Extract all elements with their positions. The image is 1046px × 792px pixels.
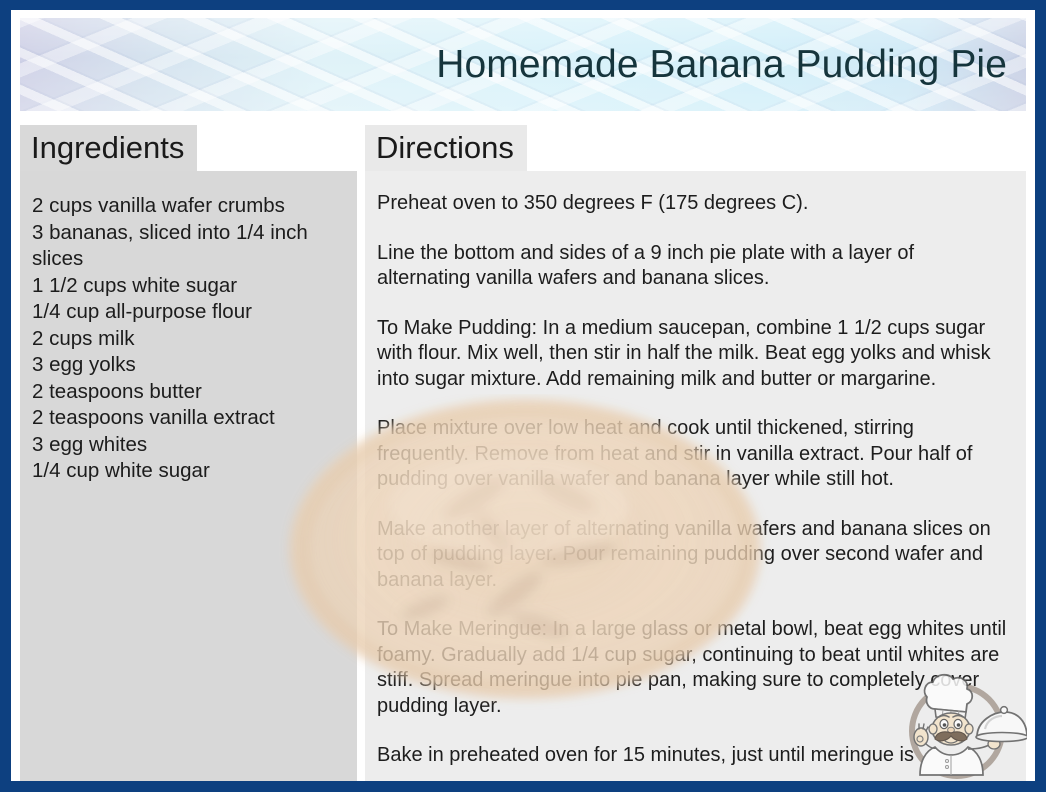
directions-heading: Directions — [365, 125, 527, 171]
list-item: To Make Meringue: In a large glass or me… — [377, 617, 1010, 719]
list-item: Line the bottom and sides of a 9 inch pi… — [377, 241, 1010, 292]
list-item: 3 bananas, sliced into 1/4 inch slices — [32, 220, 345, 273]
directions-list: Preheat oven to 350 degrees F (175 degre… — [377, 191, 1010, 769]
list-item: Bake in preheated oven for 15 minutes, j… — [377, 743, 1010, 769]
list-item: Make another layer of alternating vanill… — [377, 517, 1010, 594]
title-banner: Homemade Banana Pudding Pie — [20, 18, 1026, 111]
list-item: 1/4 cup all-purpose flour — [32, 299, 345, 326]
list-item: 1/4 cup white sugar — [32, 458, 345, 485]
page-title: Homemade Banana Pudding Pie — [436, 43, 1007, 87]
directions-column: Directions Preheat oven to 350 degrees F… — [365, 125, 1026, 781]
recipe-card-frame: Homemade Banana Pudding Pie — [0, 0, 1046, 792]
list-item: 3 egg whites — [32, 432, 345, 459]
ingredients-heading: Ingredients — [20, 125, 197, 171]
list-item: 2 cups vanilla wafer crumbs — [32, 193, 345, 220]
ingredients-panel: 2 cups vanilla wafer crumbs 3 bananas, s… — [20, 171, 357, 781]
list-item: To Make Pudding: In a medium saucepan, c… — [377, 316, 1010, 393]
recipe-card-inner: Homemade Banana Pudding Pie — [11, 10, 1035, 781]
list-item: 2 teaspoons vanilla extract — [32, 405, 345, 432]
list-item: 3 egg yolks — [32, 352, 345, 379]
ingredients-list: 2 cups vanilla wafer crumbs 3 bananas, s… — [32, 193, 345, 485]
list-item: 2 cups milk — [32, 326, 345, 353]
ingredients-column: Ingredients 2 cups vanilla wafer crumbs … — [20, 125, 357, 781]
list-item: 2 teaspoons butter — [32, 379, 345, 406]
list-item: 1 1/2 cups white sugar — [32, 273, 345, 300]
list-item: Preheat oven to 350 degrees F (175 degre… — [377, 191, 1010, 217]
list-item: Place mixture over low heat and cook unt… — [377, 416, 1010, 493]
directions-panel: Preheat oven to 350 degrees F (175 degre… — [365, 171, 1026, 781]
